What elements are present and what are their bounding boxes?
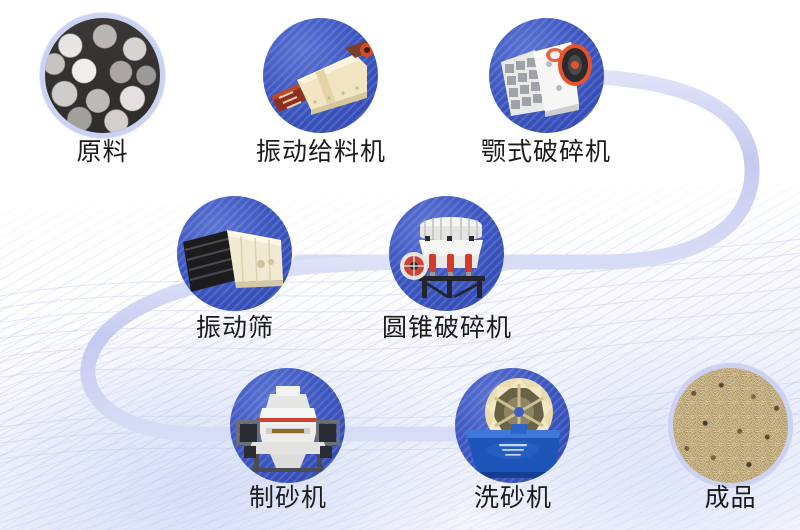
node-label-vibrating-feeder: 振动给料机 — [240, 140, 402, 165]
sand-making-machine-icon — [230, 368, 345, 483]
cone-crusher-icon — [389, 196, 504, 311]
node-label-jaw-crusher: 颚式破碎机 — [465, 140, 627, 165]
finished-sand-icon — [673, 368, 788, 483]
vibrating-screen-icon — [177, 196, 292, 311]
jaw-crusher-icon — [489, 18, 604, 133]
node-label-vibrating-screen: 振动筛 — [186, 316, 284, 341]
sand-washing-machine-icon — [455, 368, 570, 483]
node-label-finished-product: 成品 — [673, 486, 788, 511]
node-label-raw-material: 原料 — [45, 140, 160, 165]
process-flow-diagram: 原料 — [0, 0, 800, 530]
crushed-stone-pile-icon — [45, 18, 160, 133]
vibrating-feeder-icon — [263, 18, 378, 133]
node-label-sand-making-machine: 制砂机 — [239, 486, 337, 511]
node-label-cone-crusher: 圆锥破碎机 — [366, 316, 528, 341]
node-label-sand-washing-machine: 洗砂机 — [464, 486, 562, 511]
